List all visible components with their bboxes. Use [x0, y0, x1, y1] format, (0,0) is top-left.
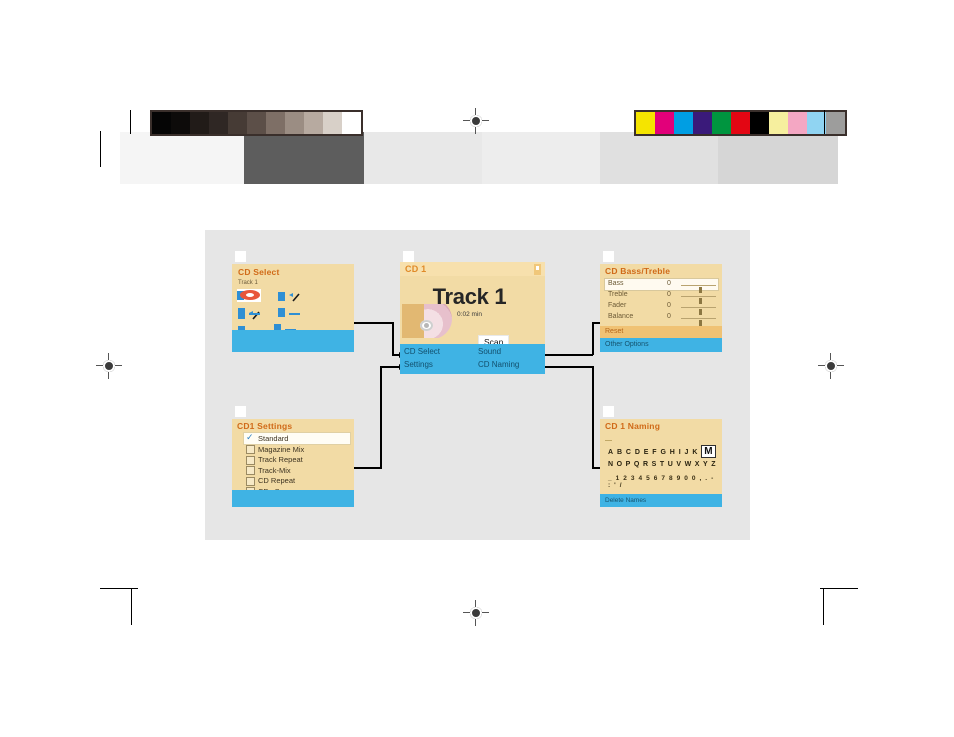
- panel-bass-treble[interactable]: CD Bass/Treble Bass 0 Treble 0 Fader 0 B…: [600, 264, 722, 352]
- other-options-label: Other Options: [605, 341, 649, 348]
- connector-cd-select-h1: [354, 322, 394, 324]
- menu-item-cd-select[interactable]: CD Select: [404, 347, 440, 356]
- option-magazine-mix-label: Magazine Mix: [258, 445, 304, 454]
- alphabet-keyboard: A B C D E F G H I J K M N O P Q R S T: [608, 446, 716, 470]
- menu-item-cd-naming[interactable]: CD Naming: [478, 360, 519, 369]
- key-D[interactable]: D: [635, 449, 640, 456]
- option-track-repeat[interactable]: Track Repeat: [244, 454, 350, 465]
- red-disc-svg: [237, 289, 261, 302]
- color-patch: [750, 112, 769, 134]
- grayscale-calibration-strip: [150, 110, 363, 136]
- option-track-mix[interactable]: Track-Mix: [244, 465, 350, 476]
- alphabet-row-2: N O P Q R S T U V W X Y Z: [608, 458, 716, 470]
- gray-patch: [190, 112, 209, 134]
- gray-patch: [304, 112, 323, 134]
- fader-row[interactable]: Fader 0: [605, 301, 718, 312]
- cd-select-slot-2[interactable]: [278, 290, 314, 304]
- registration-mark-top: [463, 108, 489, 134]
- color-calibration-strip: [634, 110, 847, 136]
- bass-label: Bass: [608, 280, 624, 287]
- gray-patch: [266, 112, 285, 134]
- gray-patch: [323, 112, 342, 134]
- cal-block-3: [364, 132, 482, 184]
- key-P[interactable]: P: [626, 461, 631, 468]
- balance-row[interactable]: Balance 0: [605, 312, 718, 323]
- cd-select-subtitle: Track 1: [238, 280, 258, 286]
- registration-mark-bottom: [463, 600, 489, 626]
- crop-mark-bl-v: [131, 589, 132, 625]
- key-W[interactable]: W: [685, 461, 692, 468]
- numbers-row[interactable]: _ 1 2 3 4 5 6 7 8 9 0 0 , . - : ' /: [608, 475, 716, 489]
- key-V[interactable]: V: [676, 461, 681, 468]
- connector-settings-h1: [354, 467, 382, 469]
- option-track-repeat-label: Track Repeat: [258, 455, 303, 464]
- delete-names-label: Delete Names: [605, 497, 646, 504]
- option-standard[interactable]: ✓ Standard: [244, 433, 350, 444]
- reset-button[interactable]: Reset: [600, 326, 722, 338]
- panel-cd1-settings[interactable]: CD1 Settings ✓ Standard Magazine Mix Tra…: [232, 419, 354, 507]
- key-E[interactable]: E: [644, 449, 649, 456]
- panel-marker-settings: [235, 406, 246, 417]
- bass-treble-header: CD Bass/Treble: [605, 266, 670, 276]
- key-A[interactable]: A: [608, 449, 613, 456]
- calibration-background-blocks: [120, 132, 838, 184]
- panel-cd1-naming[interactable]: CD 1 Naming A B C D E F G H I J K M N O …: [600, 419, 722, 507]
- pencil-icon: [288, 290, 301, 301]
- option-magazine-mix[interactable]: Magazine Mix: [244, 444, 350, 455]
- key-F[interactable]: F: [652, 449, 657, 456]
- key-I[interactable]: I: [679, 449, 681, 456]
- key-H[interactable]: H: [670, 449, 675, 456]
- bass-value: 0: [667, 280, 671, 287]
- trim-tick-right: [824, 110, 825, 134]
- option-cd-repeat-label: CD Repeat: [258, 476, 295, 485]
- trim-tick-left: [130, 110, 131, 134]
- key-K[interactable]: K: [692, 449, 697, 456]
- color-patch: [655, 112, 674, 134]
- cd1-header: CD 1: [405, 264, 426, 274]
- cal-block-6: [718, 132, 838, 184]
- proof-page: CD Select Track 1: [0, 0, 954, 737]
- cal-block-1: [120, 132, 244, 184]
- pencil-svg: [288, 292, 301, 303]
- treble-slider[interactable]: [681, 296, 716, 297]
- panel-marker-cd-select: [235, 251, 246, 262]
- registration-mark-right: [818, 353, 844, 379]
- delete-names-button[interactable]: Delete Names: [600, 494, 722, 507]
- cd1-settings-header: CD1 Settings: [237, 421, 292, 431]
- connector-naming-v: [592, 366, 594, 468]
- alphabet-row-1: A B C D E F G H I J K M: [608, 446, 716, 458]
- text-cursor: [605, 440, 612, 441]
- key-N[interactable]: N: [608, 461, 613, 468]
- panel-cd-select[interactable]: CD Select Track 1: [232, 264, 354, 352]
- cd-select-slot-5[interactable]: [278, 306, 314, 320]
- cd-select-footer-bar: [232, 330, 354, 352]
- color-patch: [769, 112, 788, 134]
- registration-mark-left: [96, 353, 122, 379]
- key-J[interactable]: J: [685, 449, 689, 456]
- cd-select-slot-1[interactable]: [238, 290, 274, 304]
- crop-mark-br-v: [823, 589, 824, 625]
- bass-slider[interactable]: [681, 285, 716, 286]
- gray-patch: [342, 112, 361, 134]
- cd1-track-title: Track 1: [400, 284, 539, 310]
- menu-item-settings[interactable]: Settings: [404, 360, 433, 369]
- crop-mark-tl-v: [100, 131, 101, 167]
- cal-block-4: [482, 132, 600, 184]
- key-T[interactable]: T: [660, 461, 665, 468]
- treble-row[interactable]: Treble 0: [605, 290, 718, 301]
- gray-patch: [247, 112, 266, 134]
- crop-mark-br-h: [820, 588, 858, 589]
- cd-name-input[interactable]: [605, 435, 717, 443]
- bass-row[interactable]: Bass 0: [605, 279, 718, 290]
- color-patch: [693, 112, 712, 134]
- color-patch: [731, 112, 750, 134]
- balance-value: 0: [667, 313, 671, 320]
- key-U[interactable]: U: [668, 461, 673, 468]
- color-patch: [788, 112, 807, 134]
- connector-sound-h2: [540, 354, 593, 356]
- fader-slider[interactable]: [681, 307, 716, 308]
- cal-block-2: [244, 132, 364, 184]
- key-R[interactable]: R: [643, 461, 648, 468]
- bass-treble-rows: Bass 0 Treble 0 Fader 0 Balance 0: [605, 279, 718, 323]
- key-S[interactable]: S: [652, 461, 657, 468]
- key-G[interactable]: G: [660, 449, 666, 456]
- key-B[interactable]: B: [617, 449, 622, 456]
- connector-cd-select-v: [392, 322, 394, 355]
- color-patch: [674, 112, 693, 134]
- key-Z[interactable]: Z: [711, 461, 716, 468]
- checkmark-icon: ✓: [246, 432, 254, 443]
- magazine-slot-icon: [534, 264, 541, 275]
- connector-naming-h2: [540, 366, 593, 368]
- color-patch: [636, 112, 655, 134]
- gray-patch: [209, 112, 228, 134]
- other-options-button[interactable]: Other Options: [600, 338, 722, 352]
- color-patch: [712, 112, 731, 134]
- cd1-menu-bar: CD Select Settings Sound CD Naming: [400, 344, 545, 374]
- menu-item-sound[interactable]: Sound: [478, 347, 501, 356]
- cd1-settings-footer-bar: [232, 490, 354, 507]
- key-Q[interactable]: Q: [634, 461, 640, 468]
- gray-patch: [152, 112, 171, 134]
- checkbox-icon[interactable]: [246, 445, 255, 454]
- key-Y[interactable]: Y: [703, 461, 708, 468]
- gray-patch: [228, 112, 247, 134]
- gray-patch: [285, 112, 304, 134]
- reset-label: Reset: [605, 328, 623, 335]
- option-track-mix-label: Track-Mix: [258, 466, 291, 475]
- balance-label: Balance: [608, 313, 633, 320]
- key-C[interactable]: C: [626, 449, 631, 456]
- checkbox-icon[interactable]: [246, 456, 255, 465]
- checkbox-icon[interactable]: [246, 477, 255, 486]
- cal-block-5: [600, 132, 718, 184]
- color-patch: [826, 112, 845, 134]
- panel-cd1-main[interactable]: CD 1 Track 1 0:02 min Scan CD Select Set…: [400, 262, 545, 374]
- treble-label: Treble: [608, 291, 628, 298]
- option-standard-label: Standard: [258, 434, 288, 443]
- balance-slider[interactable]: [681, 318, 716, 319]
- cd-select-header: CD Select: [238, 267, 279, 277]
- cd-slot-icon: [278, 292, 285, 301]
- key-X[interactable]: X: [695, 461, 700, 468]
- key-O[interactable]: O: [617, 461, 623, 468]
- fader-label: Fader: [608, 302, 626, 309]
- cd1-settings-option-list: ✓ Standard Magazine Mix Track Repeat Tra…: [244, 433, 350, 496]
- panel-marker-bass: [603, 251, 614, 262]
- connector-sound-v: [592, 322, 594, 355]
- checkbox-icon[interactable]: [246, 466, 255, 475]
- cd-disc-red-icon: [237, 289, 261, 302]
- treble-value: 0: [667, 291, 671, 298]
- panel-marker-cd1: [403, 251, 414, 262]
- panel-marker-naming: [603, 406, 614, 417]
- key-M-highlighted[interactable]: M: [701, 445, 716, 458]
- connector-settings-v: [380, 366, 382, 468]
- cd-select-slot-4[interactable]: [238, 306, 274, 320]
- option-cd-repeat[interactable]: CD Repeat: [244, 475, 350, 486]
- cd1-naming-header: CD 1 Naming: [605, 421, 660, 431]
- fader-value: 0: [667, 302, 671, 309]
- gray-patch: [171, 112, 190, 134]
- cd1-track-time: 0:02 min: [400, 311, 539, 318]
